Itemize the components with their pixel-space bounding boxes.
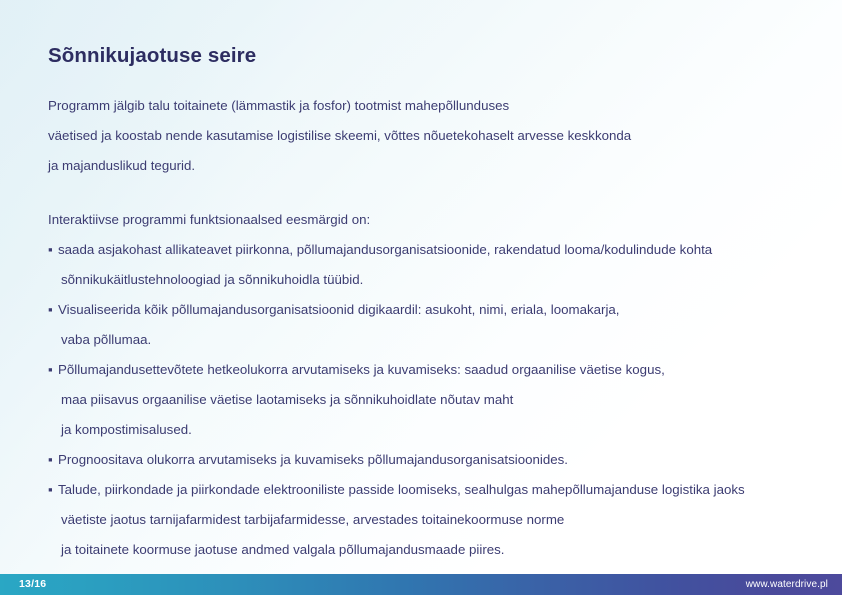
intro-paragraph: Programm jälgib talu toitainete (lämmast… [48, 91, 794, 181]
intro-line: ja majanduslikud tegurid. [48, 151, 794, 181]
list-item: ▪ Visualiseerida kõik põllumajandusorgan… [48, 295, 794, 355]
list-item: ▪ saada asjakohast allikateavet piirkonn… [48, 235, 794, 295]
bullet-dot-icon: ▪ [48, 355, 53, 385]
list-item: ▪ Prognoositava olukorra arvutamiseks ja… [48, 445, 794, 475]
page-title: Sõnnikujaotuse seire [48, 0, 794, 69]
list-item: ▪ Talude, piirkondade ja piirkondade ele… [48, 475, 794, 565]
bullet-continuation-line: ja kompostimisalused. [48, 415, 794, 445]
bullet-first-line: ▪ Visualiseerida kõik põllumajandusorgan… [48, 295, 794, 325]
bullet-first-line: ▪ Prognoositava olukorra arvutamiseks ja… [48, 445, 794, 475]
bullet-dot-icon: ▪ [48, 295, 53, 325]
bullet-text: Prognoositava olukorra arvutamiseks ja k… [58, 452, 568, 467]
objectives-section: Interaktiivse programmi funktsionaalsed … [48, 205, 794, 565]
list-item: ▪ Põllumajandusettevõtete hetkeolukorra … [48, 355, 794, 445]
footer-website-link[interactable]: www.waterdrive.pl [746, 580, 842, 590]
objectives-lead-in: Interaktiivse programmi funktsionaalsed … [48, 205, 794, 235]
intro-line: Programm jälgib talu toitainete (lämmast… [48, 91, 794, 121]
bullet-dot-icon: ▪ [48, 445, 53, 475]
bullet-continuation-line: väetiste jaotus tarnijafarmidest tarbija… [48, 505, 794, 535]
slide-content: Sõnnikujaotuse seire Programm jälgib tal… [0, 0, 842, 565]
bullet-continuation-line: ja toitainete koormuse jaotuse andmed va… [48, 535, 794, 565]
bullet-text: Visualiseerida kõik põllumajandusorganis… [58, 302, 619, 317]
bullet-text: Talude, piirkondade ja piirkondade elekt… [58, 482, 745, 497]
page-number: 13/16 [0, 579, 46, 590]
bullet-dot-icon: ▪ [48, 475, 53, 505]
bullet-continuation-line: maa piisavus orgaanilise väetise laotami… [48, 385, 794, 415]
bullet-continuation-line: sõnnikukäitlustehnoloogiad ja sõnnikuhoi… [48, 265, 794, 295]
slide-canvas: Sõnnikujaotuse seire Programm jälgib tal… [0, 0, 842, 595]
bullet-dot-icon: ▪ [48, 235, 53, 265]
intro-line: väetised ja koostab nende kasutamise log… [48, 121, 794, 151]
bullet-first-line: ▪ Põllumajandusettevõtete hetkeolukorra … [48, 355, 794, 385]
bullet-first-line: ▪ Talude, piirkondade ja piirkondade ele… [48, 475, 794, 505]
bullet-continuation-line: vaba põllumaa. [48, 325, 794, 355]
slide-footer: 13/16 www.waterdrive.pl [0, 574, 842, 595]
bullet-text: saada asjakohast allikateavet piirkonna,… [58, 242, 712, 257]
bullet-text: Põllumajandusettevõtete hetkeolukorra ar… [58, 362, 665, 377]
bullet-first-line: ▪ saada asjakohast allikateavet piirkonn… [48, 235, 794, 265]
